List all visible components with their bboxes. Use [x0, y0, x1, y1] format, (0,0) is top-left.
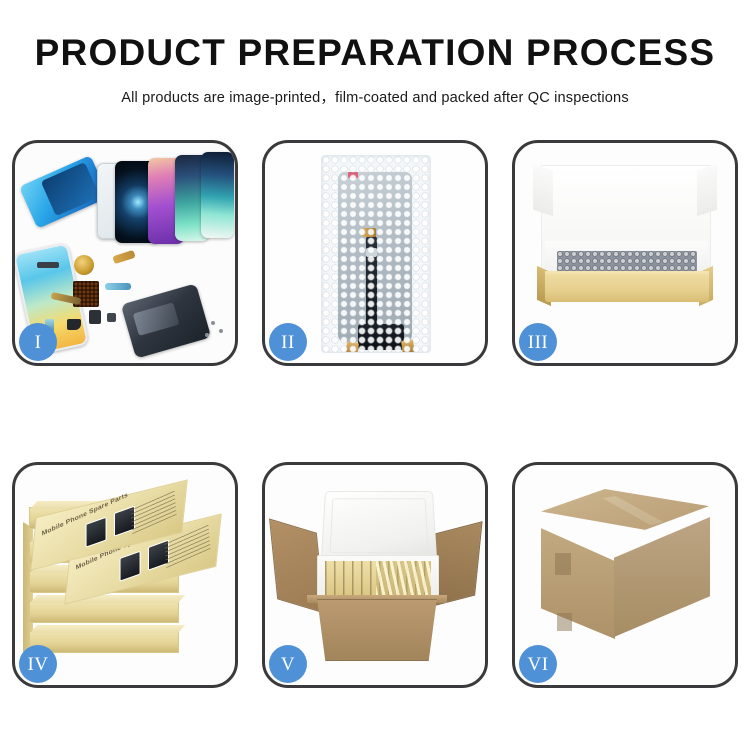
step-badge-1: I	[19, 323, 57, 361]
product-preparation-infographic: PRODUCT PREPARATION PROCESS All products…	[0, 0, 750, 750]
step-badge-3: III	[519, 323, 557, 361]
carton-seam-lower	[557, 613, 572, 631]
carton-front-panel	[309, 599, 445, 661]
step-panel-4: Mobile Phone Spare Parts Mobile Phone Sp…	[12, 462, 238, 688]
step-badge-6: VI	[519, 645, 557, 683]
carton-left-face	[541, 521, 615, 639]
bubble-texture	[322, 156, 430, 352]
step-badge-2: II	[269, 323, 307, 361]
blue-screen-adhesive	[19, 155, 109, 229]
box-stack: Mobile Phone Spare Parts Mobile Phone Sp…	[23, 485, 233, 675]
step-badge-4: IV	[19, 645, 57, 683]
screw-part-2	[219, 329, 223, 333]
vibration-motor-part	[74, 255, 94, 275]
screw-part-1	[211, 321, 215, 325]
box-lid-left	[533, 164, 553, 216]
bubble-wrap-bag	[321, 155, 431, 353]
steps-grid: I II	[12, 140, 738, 692]
phone-back-housing	[121, 283, 211, 358]
step-badge-5: V	[269, 645, 307, 683]
step-panel-6: VI	[512, 462, 738, 688]
step-panel-1: I	[12, 140, 238, 366]
box-front-panel	[545, 274, 709, 302]
box-print-screen-3	[86, 517, 107, 548]
carton-seam-upper	[555, 553, 571, 575]
earpiece-part	[37, 262, 59, 268]
button-part	[107, 313, 116, 322]
gradient-phone-display	[201, 152, 234, 238]
screw-part-3	[205, 333, 209, 337]
flex-cable-part-1	[112, 250, 135, 264]
carton-right-face	[614, 517, 710, 637]
step-panel-2: II	[262, 140, 488, 366]
kraft-box-4	[29, 601, 179, 623]
header: PRODUCT PREPARATION PROCESS All products…	[0, 34, 750, 107]
step-panel-3: III	[512, 140, 738, 366]
camera-module-part	[89, 310, 101, 324]
step-panel-5: V	[262, 462, 488, 688]
box-print-screen-1	[120, 551, 141, 582]
kraft-boxes-inside-foam	[325, 561, 431, 599]
flex-cable-part-2	[105, 283, 131, 290]
page-title: PRODUCT PREPARATION PROCESS	[0, 34, 750, 73]
speaker-part	[67, 319, 81, 330]
box-print-spec-lines-upper	[130, 488, 177, 534]
box-lid-right	[697, 164, 717, 216]
foam-container-lid	[321, 491, 437, 562]
page-subtitle: All products are image-printed，film-coat…	[0, 86, 750, 107]
